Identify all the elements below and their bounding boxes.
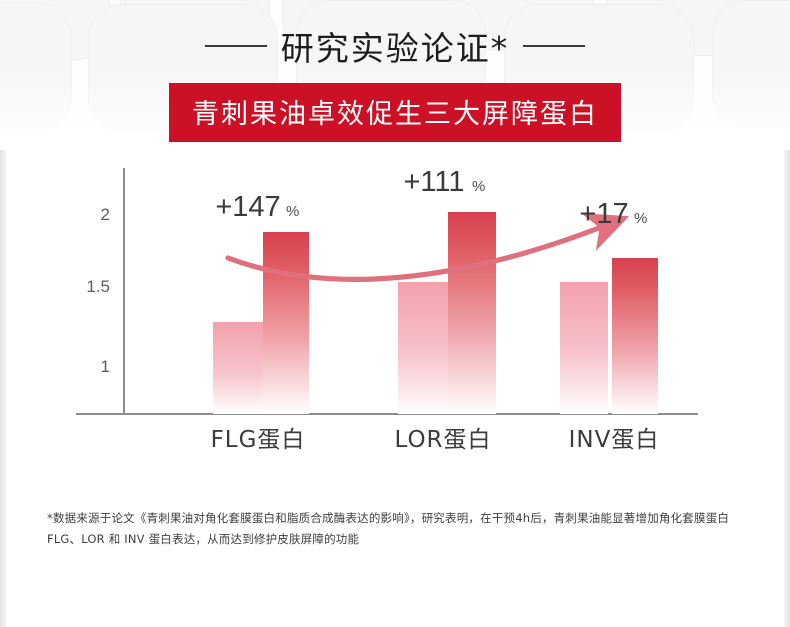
y-tick-label: 1.5 <box>86 277 110 296</box>
y-tick-label: 1 <box>101 357 110 376</box>
y-tick-label: 2 <box>101 205 110 224</box>
annotation-lor-unit: % <box>472 178 485 195</box>
banner-wrap: 青刺果油卓效促生三大屏障蛋白 <box>0 83 790 142</box>
divider-rule-left-icon <box>205 45 267 47</box>
x-category-label-inv: INV蛋白 <box>569 427 660 453</box>
footnote-line-2: FLG、LOR 和 INV 蛋白表达，从而达到修护皮肤屏障的功能 <box>47 529 747 550</box>
bar-treated-flg <box>263 232 309 414</box>
annotation-flg: +147 % <box>215 191 299 223</box>
bar-control-lor <box>398 282 448 414</box>
annotation-lor-value: +111 <box>403 166 464 198</box>
page-title: 研究实验论证* <box>281 22 510 70</box>
annotation-flg-value: +147 <box>215 191 280 223</box>
bar-chart-svg: 2 1.5 1 +147 % +111 % +1 <box>0 150 790 480</box>
bar-treated-lor <box>448 212 496 414</box>
bar-control-inv <box>560 282 608 414</box>
annotation-lor: +111 % <box>403 166 485 198</box>
annotation-inv-unit: % <box>634 210 647 227</box>
footnote: *数据来源于论文《青刺果油对角化套膜蛋白和脂质合成酶表达的影响》，研究表明，在干… <box>47 508 747 550</box>
footnote-line-1: *数据来源于论文《青刺果油对角化套膜蛋白和脂质合成酶表达的影响》，研究表明，在干… <box>47 508 747 529</box>
annotation-inv-value: +17 <box>579 198 628 230</box>
subtitle-banner: 青刺果油卓效促生三大屏障蛋白 <box>169 83 621 142</box>
header: 研究实验论证* 青刺果油卓效促生三大屏障蛋白 <box>0 22 790 142</box>
x-category-label-flg: FLG蛋白 <box>211 427 306 453</box>
headline-row: 研究实验论证* <box>0 22 790 70</box>
annotation-flg-unit: % <box>286 203 299 220</box>
bar-treated-inv <box>612 258 658 414</box>
divider-rule-right-icon <box>523 45 585 47</box>
x-category-label-lor: LOR蛋白 <box>394 427 491 453</box>
promo-infographic-page: 研究实验论证* 青刺果油卓效促生三大屏障蛋白 <box>0 0 790 627</box>
bar-chart: 2 1.5 1 +147 % +111 % +1 <box>0 150 790 480</box>
bar-control-flg <box>213 322 263 414</box>
annotation-inv: +17 % <box>579 198 647 230</box>
